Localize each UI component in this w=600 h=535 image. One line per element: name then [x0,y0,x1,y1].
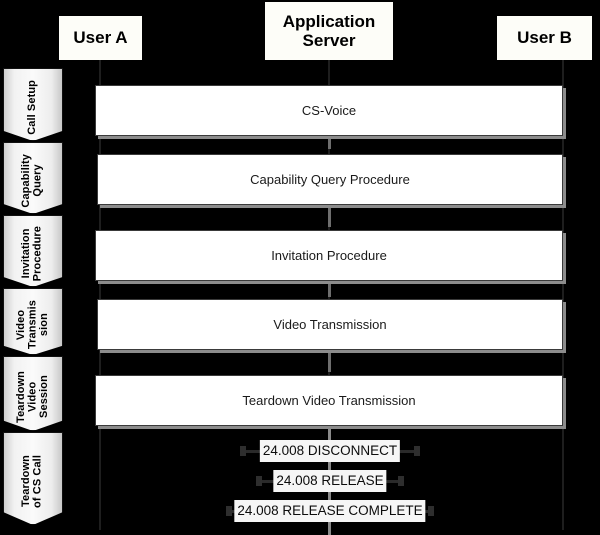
phase-invitation-procedure-label: Invitation Procedure [21,220,44,281]
process-box-invitation-procedure[interactable]: Invitation Procedure [95,230,563,281]
phase-teardown-video-session-label: Teardown Video Session [16,365,51,423]
process-box-video-transmission-label: Video Transmission [273,317,386,332]
message-row-release-complete[interactable]: 24.008 RELEASE COMPLETE [226,500,434,522]
actor-user-b-label: User B [517,28,572,47]
actor-user-b[interactable]: User B [497,16,592,60]
process-box-teardown-video-transmission[interactable]: Teardown Video Transmission [95,375,563,426]
phase-column: Call Setup Capability Query Invitation P… [3,68,63,526]
process-box-capability-query-procedure[interactable]: Capability Query Procedure [97,154,563,205]
actor-user-a-label: User A [73,28,127,47]
phase-capability-query[interactable]: Capability Query [3,142,63,214]
arrowhead-disconnect-right [414,446,420,456]
lifeline-segment-server-1 [328,136,331,149]
phase-video-transmission[interactable]: Video Transmis sion [3,288,63,355]
message-row-disconnect[interactable]: 24.008 DISCONNECT [240,440,420,462]
phase-call-setup-label: Call Setup [27,74,39,135]
phase-capability-query-label: Capability Query [21,148,44,208]
lifeline-segment-server-4 [328,350,331,372]
message-label-release: 24.008 RELEASE [273,470,386,492]
phase-video-transmission-label: Video Transmis sion [16,294,51,349]
arrowhead-release-complete-left [226,506,232,516]
process-box-invitation-procedure-label: Invitation Procedure [271,248,387,263]
arrowhead-release-left [256,476,262,486]
message-label-release-complete: 24.008 RELEASE COMPLETE [234,500,425,522]
actor-application-server[interactable]: ApplicationServer [265,2,393,60]
phase-call-setup[interactable]: Call Setup [3,68,63,141]
call-flow-diagram: User A ApplicationServer User B Call Set… [0,0,600,535]
lifeline-segment-server-3 [328,281,331,297]
message-row-release[interactable]: 24.008 RELEASE [256,470,404,492]
phase-teardown-cs-call[interactable]: Teardown of CS Call [3,432,63,525]
lifeline-segment-server-2 [328,205,331,227]
process-box-video-transmission[interactable]: Video Transmission [97,299,563,350]
actor-user-a[interactable]: User A [59,16,142,60]
phase-teardown-video-session[interactable]: Teardown Video Session [3,356,63,431]
actor-application-server-label: ApplicationServer [283,12,376,50]
arrowhead-release-complete-right [428,506,434,516]
phase-invitation-procedure[interactable]: Invitation Procedure [3,215,63,287]
process-box-cs-voice-label: CS-Voice [302,103,356,118]
phase-teardown-cs-call-label: Teardown of CS Call [21,449,44,508]
arrowhead-release-right [398,476,404,486]
process-box-cs-voice[interactable]: CS-Voice [95,85,563,136]
process-box-teardown-video-transmission-label: Teardown Video Transmission [242,393,415,408]
message-label-disconnect: 24.008 DISCONNECT [260,440,400,462]
process-box-capability-query-procedure-label: Capability Query Procedure [250,172,410,187]
arrowhead-disconnect-left [240,446,246,456]
